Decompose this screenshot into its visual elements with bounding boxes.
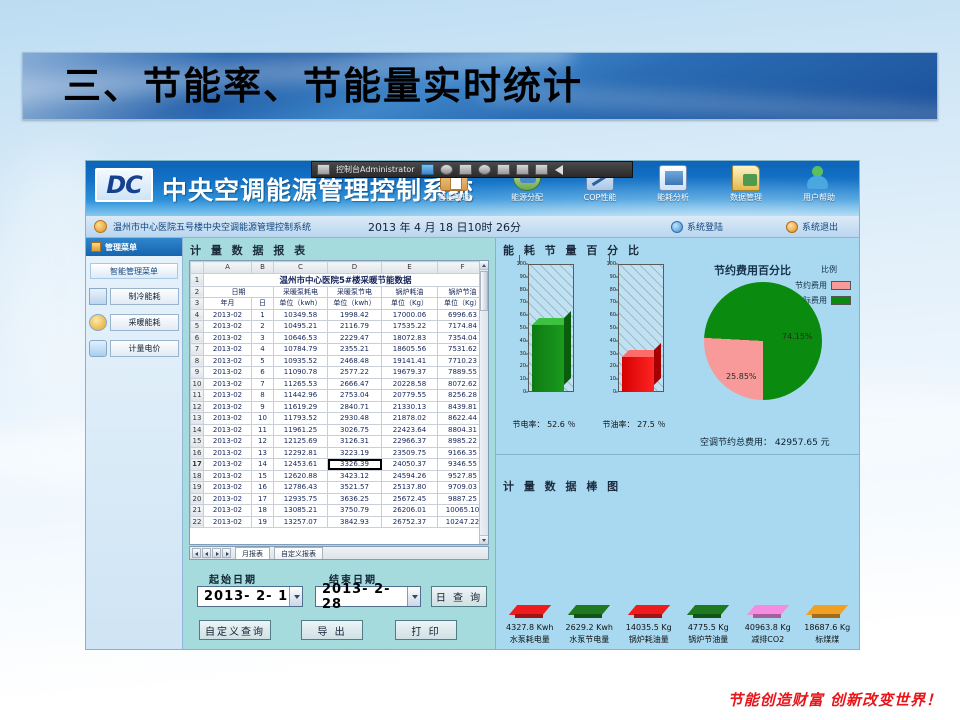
end-date-value: 2013- 2-28 [322,582,407,612]
table-cell[interactable]: 21878.02 [382,413,438,425]
sidebar-item-label: 采暖能耗 [110,314,179,331]
legend-label: 节约费用 [795,280,827,291]
sheet-tab-bar: 月报表 自定义报表 [189,546,489,560]
table-cell[interactable]: 11961.25 [274,424,328,436]
start-date-input[interactable]: 2013- 2- 1 [197,586,303,607]
tab-monthly-report[interactable]: 月报表 [235,547,270,559]
table-row[interactable]: 112013-02811442.962753.0420779.558256.28 [191,390,488,402]
table-cell[interactable]: 14 [252,459,274,471]
table-cell[interactable]: 22423.64 [382,424,438,436]
keyboard-icon[interactable] [535,164,548,175]
system-logout-link[interactable]: 系统退出 [786,220,838,233]
table-cell[interactable]: 25137.80 [382,482,438,494]
axis-tick-mark [525,340,528,341]
table-cell[interactable]: 10349.58 [274,309,328,321]
table-cell[interactable]: 17535.22 [382,321,438,333]
folder-icon [732,165,760,191]
table-cell[interactable]: 2355.21 [328,344,382,356]
scroll-thumb[interactable] [480,271,488,311]
table-cell[interactable]: 22966.37 [382,436,438,448]
sidebar-header: 管理菜单 [86,238,182,256]
heating-icon [89,314,107,331]
table-cell[interactable]: 2753.04 [328,390,382,402]
table-cell[interactable]: 2013-02 [204,367,252,379]
metric-label: 水泵节电量 [560,634,620,645]
table-cell[interactable]: 3326.39 [328,459,382,471]
col-letter[interactable]: B [252,262,274,274]
spreadsheet[interactable]: A B C D E F 1 温州市中心医院5#楼采暖节能数据 [189,260,489,545]
metric-pump-consumption: 4327.8 Kwh 水泵耗电量 [500,605,560,645]
bar-panel-title: 计 量 数 据 棒 图 [496,476,859,497]
table-cell[interactable]: 1 [252,309,274,321]
table-cell[interactable]: 2930.48 [328,413,382,425]
metric-value: 4775.5 Kg [679,623,739,632]
bar-axis: 0102030405060708090100 [618,264,664,392]
scroll-down-arrow[interactable] [480,535,488,544]
sidebar-item-label: 制冷能耗 [110,288,179,305]
table-cell[interactable]: 3026.75 [328,424,382,436]
table-cell[interactable]: 11 [252,424,274,436]
row-number: 21 [191,505,204,517]
axis-tick-mark [615,264,618,265]
toolbar-label: 能源分配 [491,192,563,203]
table-cell[interactable]: 12453.61 [274,459,328,471]
screen-icon[interactable] [421,164,434,175]
table-cell[interactable]: 10646.53 [274,332,328,344]
table-cell[interactable]: 10 [252,413,274,425]
hand-icon[interactable] [516,164,529,175]
table-cell[interactable]: 12292.81 [274,447,328,459]
row-number: 16 [191,447,204,459]
toolbar-label: COP性能 [564,192,636,203]
metric-label: 锅炉耗油量 [619,634,679,645]
table-cell[interactable]: 2013-02 [204,309,252,321]
table-cell[interactable]: 10935.52 [274,355,328,367]
table-cell[interactable]: 2013-02 [204,459,252,471]
table-cell[interactable]: 13085.21 [274,505,328,517]
table-cell[interactable]: 20779.55 [382,390,438,402]
row-number: 5 [191,321,204,333]
table-cell[interactable]: 12786.43 [274,482,328,494]
application-window: 控制台Administrator DC 中央空调能源管理控制系统 智能管理 能源… [85,160,860,650]
table-cell[interactable]: 3423.12 [328,470,382,482]
monitor-icon [317,164,330,175]
metric-bar [810,605,844,619]
bar-red [622,357,654,392]
day-query-button[interactable]: 日 查 询 [431,586,487,607]
tab-custom-report[interactable]: 自定义报表 [274,547,323,559]
axis-tick-mark [615,289,618,290]
bar-unit-power-saving: 0102030405060708090100 [506,262,584,404]
metric-value: 18687.6 Kg [798,623,858,632]
bar-side-face [693,614,721,618]
table-cell[interactable]: 3521.57 [328,482,382,494]
report-title: 计 量 数 据 报 表 [183,238,495,261]
row-number: 17 [191,459,204,471]
metric-boiler-saving: 4775.5 Kg 锅炉节油量 [679,605,739,645]
col-letter[interactable]: D [328,262,382,274]
table-cell[interactable]: 2840.71 [328,401,382,413]
metric-value: 40963.8 Kg [738,623,798,632]
page-title: 三、节能率、节能量实时统计 [23,53,937,119]
row-number: 15 [191,436,204,448]
table-cell[interactable]: 3842.93 [328,516,382,528]
toolbar-label: 用户帮助 [783,192,855,203]
metric-bar [751,605,785,619]
axis-tick-mark [525,353,528,354]
table-row[interactable]: 222013-021913257.073842.9326752.3710247.… [191,516,488,528]
table-cell[interactable]: 17000.06 [382,309,438,321]
table-row: 3 年月 日 单位（kwh） 单位（kwh） 单位（Kg） 单位（Kg） [191,298,488,310]
table-cell[interactable]: 12125.69 [274,436,328,448]
axis-tick-mark [615,276,618,277]
table-cell[interactable]: 2013-02 [204,447,252,459]
table-row[interactable]: 212013-021813085.213750.7926206.0110065.… [191,505,488,517]
table-row[interactable]: 102013-02711265.532666.4720228.588072.62 [191,378,488,390]
table-cell[interactable]: 2013-02 [204,482,252,494]
column-letter-row: A B C D E F [191,262,488,274]
legend-title: 比例 [821,264,837,275]
toolbar-item-user-help[interactable]: 用户帮助 [783,163,855,203]
table-cell[interactable]: 12935.75 [274,493,328,505]
toolbar-item-data-management[interactable]: 数据管理 [710,163,782,203]
toolbar-label: 数据管理 [710,192,782,203]
cost-pie-chart: 节约费用百分比 比例 节约费用 实际费用 [686,260,855,450]
table-row[interactable]: 172013-021412453.613326.3924050.379346.5… [191,459,488,471]
console-toolbar[interactable]: 控制台Administrator [311,161,633,178]
table-row[interactable]: 182013-021512620.883423.1224594.269527.8… [191,470,488,482]
status-bar: 温州市中心医院五号楼中央空调能源管理控制系统 2013 年 4 月 18 日10… [86,216,859,238]
metric-pump-saving: 2629.2 Kwh 水泵节电量 [560,605,620,645]
row-number: 13 [191,413,204,425]
end-date-input[interactable]: 2013- 2-28 [315,586,421,607]
legend-swatch [831,296,851,305]
table-cell[interactable]: 2 [252,321,274,333]
current-datetime: 2013 年 4 月 18 日10时 26分 [368,219,521,235]
first-sheet-icon[interactable] [192,548,201,558]
slide-footer: 节能创造财富 创新改变世界！ [728,689,942,710]
table-cell[interactable]: 4 [252,344,274,356]
legend-swatch [831,281,851,290]
print-button[interactable]: 打 印 [395,620,457,640]
pointer-icon[interactable] [478,164,491,175]
table-cell[interactable]: 19 [252,516,274,528]
total-savings-label: 空调节约总费用： 42957.65 元 [700,435,830,448]
table-cell[interactable]: 2013-02 [204,424,252,436]
system-login-link[interactable]: 系统登陆 [671,220,723,233]
row-number: 9 [191,367,204,379]
bar-side-face [753,614,781,618]
table-cell[interactable]: 25672.45 [382,493,438,505]
table-cell[interactable]: 26206.01 [382,505,438,517]
bar-unit-oil-saving: 0102030405060708090100 [596,262,674,404]
metric-standard-coal: 18687.6 Kg 标煤煤 [798,605,858,645]
table-cell[interactable]: 3126.31 [328,436,382,448]
table-row[interactable]: 52013-02210495.212116.7917535.227174.84 [191,321,488,333]
axis-tick-mark [615,379,618,380]
table-cell[interactable]: 18605.56 [382,344,438,356]
axis-tick-mark [525,289,528,290]
table-cell[interactable]: 21330.13 [382,401,438,413]
speaker-icon[interactable] [554,164,567,175]
table-cell[interactable]: 19141.41 [382,355,438,367]
metric-label: 减排CO2 [738,634,798,645]
table-cell[interactable]: 2229.47 [328,332,382,344]
table-cell[interactable]: 18 [252,505,274,517]
axis-tick-mark [525,392,528,393]
table-cell[interactable]: 13257.07 [274,516,328,528]
table-row[interactable]: 192013-021612786.433521.5725137.809709.0… [191,482,488,494]
report-panel: 计 量 数 据 报 表 A B C D E F [183,238,496,650]
mouse-icon[interactable] [440,164,453,175]
sidebar-item-cooling[interactable]: 制冷能耗 [89,288,179,305]
table-cell[interactable]: 2013-02 [204,413,252,425]
metric-label: 锅炉节油量 [679,634,739,645]
legend-item-saved: 节约费用 [795,280,851,291]
bar-axis: 0102030405060708090100 [528,264,574,392]
row-number: 19 [191,482,204,494]
cooling-icon [89,288,107,305]
axis-tick-mark [525,264,528,265]
table-row[interactable]: 122013-02911619.292840.7121330.138439.81 [191,401,488,413]
table-row[interactable]: 62013-02310646.532229.4718072.837354.04 [191,332,488,344]
panel-divider [496,454,859,455]
table-cell[interactable]: 11442.96 [274,390,328,402]
menu-icon [91,242,101,252]
metric-boiler-consumption: 14035.5 Kg 锅炉耗油量 [619,605,679,645]
table-cell[interactable]: 11090.78 [274,367,328,379]
price-icon [89,340,107,357]
metric-bar [513,605,547,619]
logout-icon [786,221,798,233]
axis-tick-mark [525,379,528,380]
row-number: 11 [191,390,204,402]
percentage-bar-chart: 0102030405060708090100 [504,262,676,430]
table-cell[interactable]: 12620.88 [274,470,328,482]
table-cell[interactable]: 2013-02 [204,493,252,505]
site-icon [94,220,107,233]
site-name: 温州市中心医院五号楼中央空调能源管理控制系统 [113,220,311,233]
metric-label: 水泵耗电量 [500,634,560,645]
sidebar-item-price[interactable]: 计量电价 [89,340,179,357]
axis-tick-mark [615,366,618,367]
drive-icon[interactable] [459,164,472,175]
col-letter[interactable]: C [274,262,328,274]
table-row[interactable]: 162013-021312292.813223.1923509.759166.3… [191,447,488,459]
table-cell[interactable]: 2577.22 [328,367,382,379]
col-letter[interactable]: E [382,262,438,274]
bar-side-face [812,614,840,618]
table-cell[interactable]: 2013-02 [204,401,252,413]
table-cell[interactable]: 2013-02 [204,390,252,402]
chevron-down-icon[interactable] [407,587,420,606]
table-cell[interactable]: 6 [252,367,274,379]
header-cell: 单位（kwh） [274,298,328,310]
table-row[interactable]: 72013-02410784.792355.2118605.567531.62 [191,344,488,356]
bar-front-face [622,357,654,392]
sidebar: 管理菜单 智能管理菜单 制冷能耗 采暖能耗 计量电价 [86,238,183,650]
table-row[interactable]: 152013-021212125.693126.3122966.378985.2… [191,436,488,448]
table-cell[interactable]: 2013-02 [204,505,252,517]
start-date-value: 2013- 2- 1 [204,589,288,604]
pie-label-actual: 74.15% [782,332,813,341]
logout-label: 系统退出 [802,220,838,233]
table-cell[interactable]: 3 [252,332,274,344]
sheet-nav-buttons[interactable] [190,548,231,558]
metric-value: 2629.2 Kwh [560,623,620,632]
row-number: 12 [191,401,204,413]
user-icon [805,165,833,191]
table-cell[interactable]: 11619.29 [274,401,328,413]
sidebar-subheader[interactable]: 智能管理菜单 [90,263,178,279]
axis-tick-mark [525,328,528,329]
bar-side-face [564,311,571,385]
table-row[interactable]: 82013-02510935.522468.4819141.417710.23 [191,355,488,367]
main-content: 计 量 数 据 报 表 A B C D E F [183,238,859,650]
table-cell[interactable]: 9 [252,401,274,413]
table-cell[interactable]: 2013-02 [204,332,252,344]
bar-front-face [532,325,564,392]
login-label: 系统登陆 [687,220,723,233]
table-row[interactable]: 132013-021011793.522930.4821878.028622.4… [191,413,488,425]
power-saving-rate-caption: 节电率： 52.6 ％ [500,419,588,430]
table-cell[interactable]: 2013-02 [204,378,252,390]
table-cell[interactable]: 11793.52 [274,413,328,425]
fullscreen-icon[interactable] [497,164,510,175]
header-date: 日期 [204,286,274,298]
table-cell[interactable]: 2013-02 [204,321,252,333]
prev-sheet-icon[interactable] [202,548,211,558]
table-cell[interactable]: 20228.58 [382,378,438,390]
table-cell[interactable]: 16 [252,482,274,494]
sidebar-item-heating[interactable]: 采暖能耗 [89,314,179,331]
axis-tick-mark [525,276,528,277]
bar-side-face [515,614,543,618]
table-cell[interactable]: 2013-02 [204,470,252,482]
table-cell[interactable]: 3636.25 [328,493,382,505]
metric-label: 标煤煤 [798,634,858,645]
metric-value: 14035.5 Kg [619,623,679,632]
next-sheet-icon[interactable] [212,548,221,558]
table-cell[interactable]: 19679.37 [382,367,438,379]
axis-tick-mark [615,340,618,341]
app-body: 管理菜单 智能管理菜单 制冷能耗 采暖能耗 计量电价 计 量 数 据 报 表 [86,238,859,650]
table-cell[interactable]: 17 [252,493,274,505]
table-cell[interactable]: 18072.83 [382,332,438,344]
row-number: 4 [191,309,204,321]
table-cell[interactable]: 8 [252,390,274,402]
table-row[interactable]: 92013-02611090.782577.2219679.377889.55 [191,367,488,379]
report-caption: 温州市中心医院5#楼采暖节能数据 [204,273,488,286]
table-cell[interactable]: 5 [252,355,274,367]
axis-tick-mark [525,366,528,367]
axis-tick-mark [525,302,528,303]
table-row[interactable]: 202013-021712935.753636.2525672.459887.2… [191,493,488,505]
metric-co2-reduction: 40963.8 Kg 减排CO2 [738,605,798,645]
vertical-scrollbar[interactable] [479,261,488,544]
axis-tick-mark [525,315,528,316]
table-cell[interactable]: 2666.47 [328,378,382,390]
toolbar-item-consumption-analysis[interactable]: 能耗分析 [637,163,709,203]
table-cell[interactable]: 2013-02 [204,516,252,528]
axis-tick-mark [615,315,618,316]
charts-panel: 能 耗 节 量 百 分 比 [496,238,859,650]
header-cell: 日 [252,298,274,310]
table-cell[interactable]: 3223.19 [328,447,382,459]
export-button[interactable]: 导 出 [301,620,363,640]
table-cell[interactable]: 26752.37 [382,516,438,528]
start-date-label: 起始日期 [209,571,257,586]
axis-tick-mark [615,328,618,329]
header-cell: 单位（kwh） [328,298,382,310]
table-cell[interactable]: 24050.37 [382,459,438,471]
table-cell[interactable]: 2468.48 [328,355,382,367]
table-row: 1 温州市中心医院5#楼采暖节能数据 [191,273,488,286]
table-cell[interactable]: 11265.53 [274,378,328,390]
col-letter[interactable]: A [204,262,252,274]
slide-title-banner: 三、节能率、节能量实时统计 [22,52,938,120]
custom-query-button[interactable]: 自定义查询 [199,620,271,640]
row-number: 14 [191,424,204,436]
table-body: 1 温州市中心医院5#楼采暖节能数据 2 日期 采暖泵耗电 采暖泵节电 锅炉耗油… [191,273,488,528]
scroll-up-arrow[interactable] [480,261,488,270]
table-cell[interactable]: 2013-02 [204,355,252,367]
table-cell[interactable]: 2013-02 [204,344,252,356]
header-cell: 采暖泵耗电 [274,286,328,298]
row-number: 7 [191,344,204,356]
header-cell: 锅炉耗油 [382,286,438,298]
table-cell[interactable]: 7 [252,378,274,390]
table-cell[interactable]: 3750.79 [328,505,382,517]
row-number: 10 [191,378,204,390]
logo-text: DC [106,171,142,199]
table-cell[interactable]: 13 [252,447,274,459]
axis-tick-mark [615,353,618,354]
app-logo: DC [95,168,153,202]
sidebar-item-label: 计量电价 [110,340,179,357]
bar-green [532,325,564,392]
table-cell[interactable]: 2013-02 [204,436,252,448]
pie-label-saved: 25.85% [726,372,757,381]
table-cell[interactable]: 1998.42 [328,309,382,321]
table-cell[interactable]: 15 [252,470,274,482]
metric-row: 4327.8 Kwh 水泵耗电量 2629.2 Kwh 水泵节电量 14035.… [500,605,857,645]
table-cell[interactable]: 10495.21 [274,321,328,333]
table-row[interactable]: 142013-021111961.253026.7522423.648804.3… [191,424,488,436]
row-number: 20 [191,493,204,505]
table-row: 2 日期 采暖泵耗电 采暖泵节电 锅炉耗油 锅炉节油 [191,286,488,298]
pie-graphic [704,282,822,400]
row-number: 6 [191,332,204,344]
table-row[interactable]: 42013-02110349.581998.4217000.066996.63 [191,309,488,321]
chevron-down-icon[interactable] [289,587,302,606]
axis-tick-mark [615,302,618,303]
table-cell[interactable]: 2116.79 [328,321,382,333]
login-icon [671,221,683,233]
metric-bar [632,605,666,619]
table-cell[interactable]: 10784.79 [274,344,328,356]
table-cell[interactable]: 24594.26 [382,470,438,482]
percent-chart-area: 0102030405060708090100 [496,258,859,454]
row-number: 8 [191,355,204,367]
table-cell[interactable]: 23509.75 [382,447,438,459]
last-sheet-icon[interactable] [222,548,231,558]
table-cell[interactable]: 12 [252,436,274,448]
row-number: 18 [191,470,204,482]
pie-title: 节约费用百分比 [714,262,791,278]
bar-side-face [574,614,602,618]
header-cell: 采暖泵节电 [328,286,382,298]
